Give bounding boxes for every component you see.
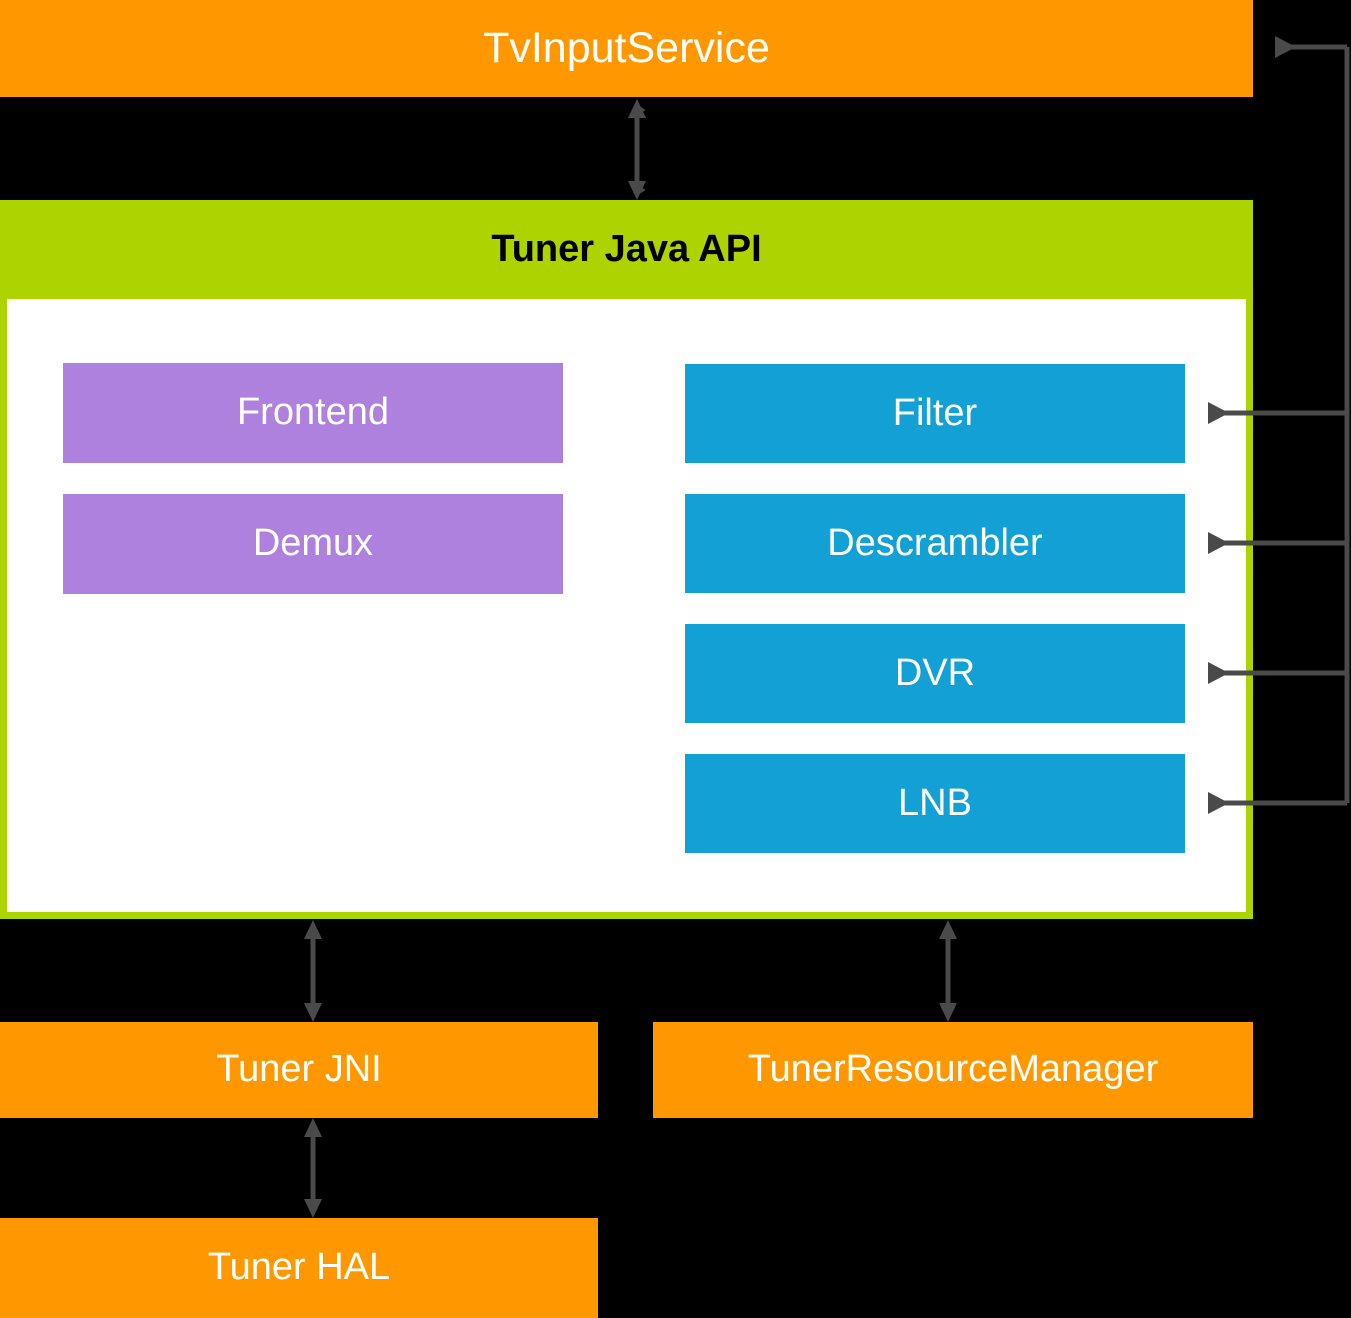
node-lnb[interactable]: LNB [685, 754, 1185, 853]
diagram-canvas: TvInputService Tuner Java API Frontend D… [0, 0, 1351, 1318]
node-tuner-resource-manager-label: TunerResourceManager [748, 1049, 1158, 1091]
node-filter-label: Filter [893, 393, 977, 435]
node-lnb-label: LNB [898, 783, 972, 825]
node-dvr[interactable]: DVR [685, 624, 1185, 723]
node-tuner-java-api-label: Tuner Java API [491, 229, 761, 271]
connector-tunerjavaapi-tunerresourcemanager [939, 920, 957, 1022]
node-frontend-label: Frontend [237, 392, 389, 434]
node-descrambler[interactable]: Descrambler [685, 494, 1185, 593]
node-frontend[interactable]: Frontend [63, 363, 563, 463]
node-tuner-java-api[interactable]: Tuner Java API [0, 200, 1253, 299]
node-tuner-resource-manager[interactable]: TunerResourceManager [653, 1022, 1253, 1118]
node-tuner-jni-label: Tuner JNI [216, 1049, 381, 1091]
connector-tunerjavaapi-tunerjni [304, 920, 322, 1022]
connector-tvinputservice-tunerjavaapi [628, 99, 646, 200]
node-tuner-jni[interactable]: Tuner JNI [0, 1022, 598, 1118]
node-tuner-hal-label: Tuner HAL [208, 1247, 390, 1289]
node-dvr-label: DVR [895, 653, 975, 695]
node-tuner-hal[interactable]: Tuner HAL [0, 1218, 598, 1318]
node-filter[interactable]: Filter [685, 364, 1185, 463]
node-descrambler-label: Descrambler [827, 523, 1042, 565]
node-tv-input-service-label: TvInputService [483, 25, 770, 72]
node-demux-label: Demux [253, 523, 373, 565]
connector-tunerjni-tunerhal [304, 1118, 322, 1218]
node-tv-input-service[interactable]: TvInputService [0, 0, 1253, 97]
node-demux[interactable]: Demux [63, 494, 563, 594]
